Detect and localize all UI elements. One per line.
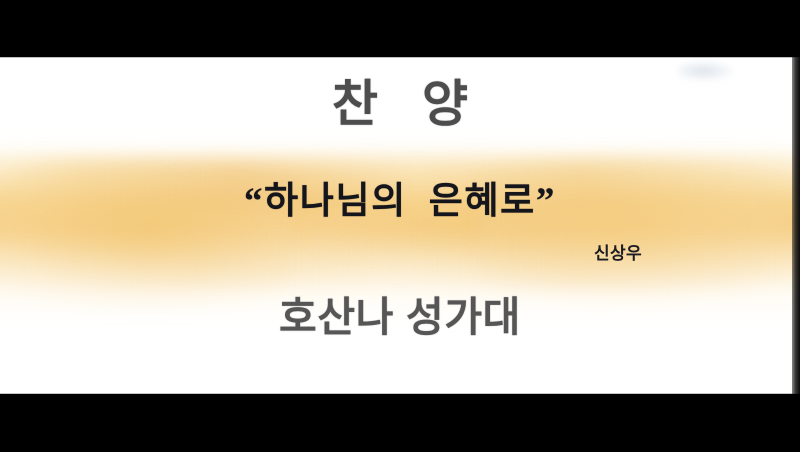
performer-name: 호산나 성가대 bbox=[0, 297, 800, 338]
song-title: “하나님의 은혜로” bbox=[0, 183, 800, 220]
letterbox-top-hairline bbox=[0, 57, 800, 58]
slide-canvas: 찬 양 “하나님의 은혜로” 신상우 호산나 성가대 bbox=[0, 57, 800, 394]
section-heading: 찬 양 bbox=[0, 79, 800, 129]
video-title-card: 찬 양 “하나님의 은혜로” 신상우 호산나 성가대 bbox=[0, 0, 800, 452]
slide-text-block: 찬 양 “하나님의 은혜로” 신상우 호산나 성가대 bbox=[0, 57, 800, 394]
letterbox-top bbox=[0, 0, 800, 57]
composer-credit: 신상우 bbox=[0, 245, 800, 262]
letterbox-bottom bbox=[0, 394, 800, 452]
right-dark-edge bbox=[792, 57, 800, 394]
